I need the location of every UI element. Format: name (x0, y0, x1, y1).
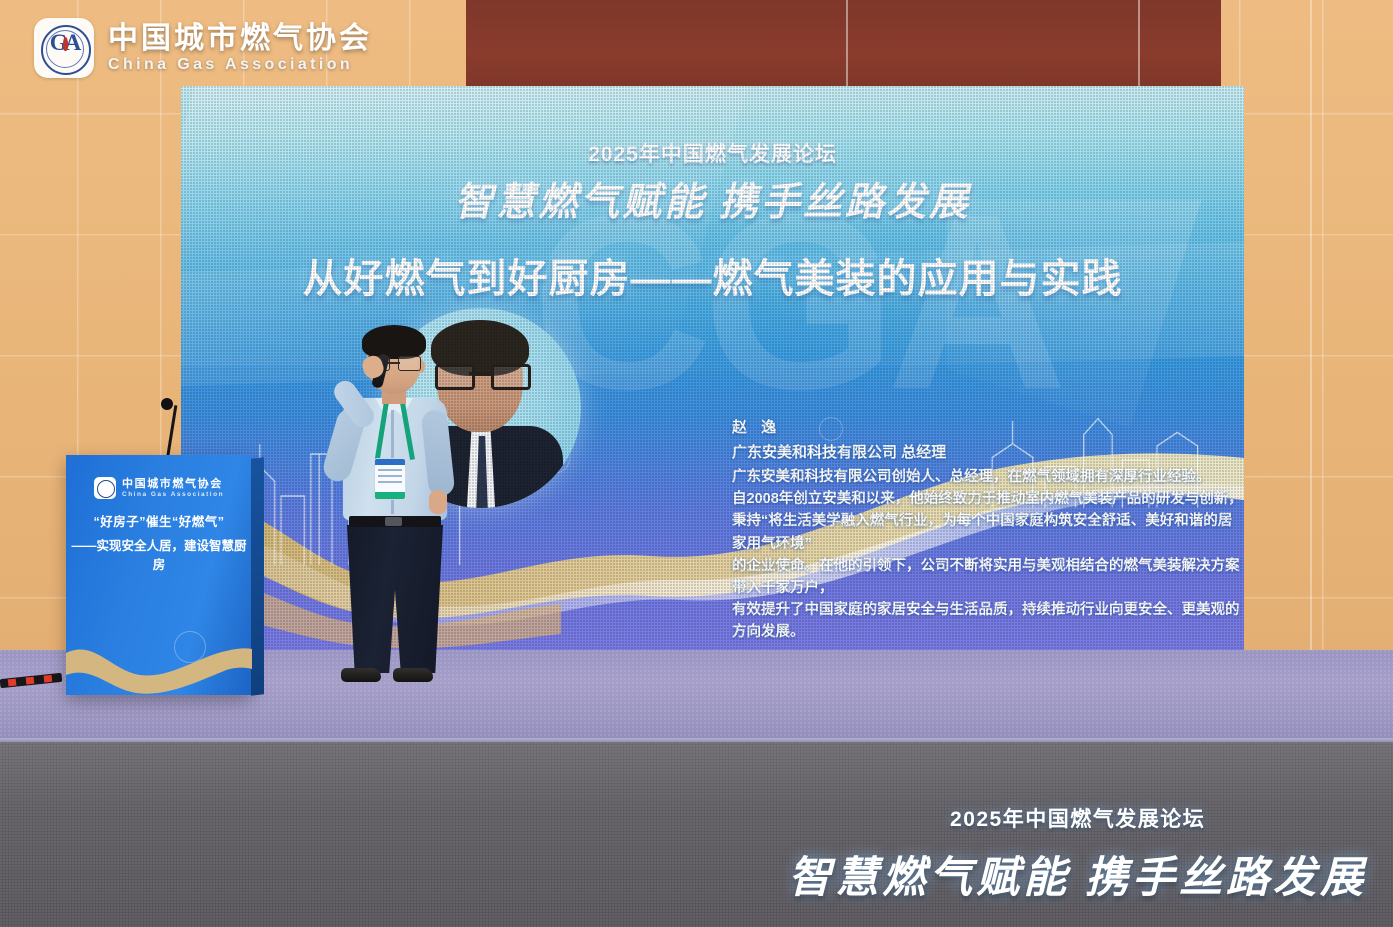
cga-emblem-icon (94, 477, 116, 499)
conference-stage-photo: CGA (0, 0, 1393, 927)
speaker-name: 赵 逸 (732, 416, 1244, 437)
speaker-role: 广东安美和科技有限公司 总经理 (732, 441, 1244, 462)
speaker-belt-buckle (385, 517, 402, 526)
speaker-bio-line: 有效提升了中国家庭的家居安全与生活品质，持续推动行业向更安全、更美观的方向发展。 (732, 599, 1244, 643)
speaker-shoe (393, 668, 433, 682)
bottom-overlay-line2: 智慧燃气赋能 携手丝路发展 (788, 843, 1367, 905)
podium-slogan: “好房子”催生“好燃气” ——实现安全人居，建设智慧厨房 (66, 511, 252, 573)
speaker-bio-line: 广东安美和科技有限公司创始人、总经理，在燃气领域拥有深厚行业经验。 (732, 466, 1244, 488)
watermark-org-cn: 中国城市燃气协会 (108, 22, 372, 57)
speaker-bio-block: 赵 逸 广东安美和科技有限公司 总经理 广东安美和科技有限公司创始人、总经理，在… (732, 416, 1244, 643)
bottom-overlay-line1: 2025年中国燃气发展论坛 (788, 803, 1367, 833)
speaker-bio-line: 秉持“将生活美学融入燃气行业，为每个中国家庭构筑安全舒适、美好和谐的居家用气环境… (732, 510, 1244, 554)
podium-org-en: China Gas Association (122, 491, 224, 498)
podium-org-cn: 中国城市燃气协会 (122, 478, 224, 490)
speaker-badge (374, 458, 406, 500)
bottom-overlay: 2025年中国燃气发展论坛 智慧燃气赋能 携手丝路发展 (788, 803, 1367, 905)
podium-side-panel (251, 457, 264, 696)
speaker-hair (362, 325, 426, 359)
wall-seam-right (1310, 0, 1312, 680)
cga-emblem-icon: GA (34, 18, 94, 78)
speaker-person (327, 330, 457, 680)
podium-slogan-line2: ——实现安全人居，建设智慧厨房 (66, 535, 252, 573)
speaker-shoe (341, 668, 381, 682)
podium: 中国城市燃气协会 China Gas Association “好房子”催生“好… (66, 455, 252, 695)
podium-slogan-line1: “好房子”催生“好燃气” (66, 511, 252, 530)
speaker-legs (347, 525, 443, 673)
wall-brown-upper-band (466, 0, 1221, 96)
podium-gold-ribbon (66, 635, 252, 695)
screen-slogan-line: 智慧燃气赋能 携手丝路发展 (181, 171, 1244, 227)
speaker-left-hand (429, 490, 447, 514)
watermark-org-en: China Gas Association (108, 56, 372, 74)
flame-icon (63, 37, 68, 51)
speaker-bio-line: 自2008年创立安美和以来，他始终致力于推动室内燃气美装产品的研发与创新， (732, 488, 1244, 510)
screen-forum-line: 2025年中国燃气发展论坛 (181, 138, 1244, 168)
podium-logo: 中国城市燃气协会 China Gas Association (94, 477, 224, 499)
speaker-bio-line: 的企业使命。在他的引领下，公司不断将实用与美观相结合的燃气美装解决方案带入千家万… (732, 555, 1244, 599)
screen-title-line: 从好燃气到好厨房——燃气美装的应用与实践 (181, 246, 1244, 304)
watermark-logo: GA 中国城市燃气协会 China Gas Association (34, 18, 372, 78)
microphone-icon (161, 398, 173, 410)
